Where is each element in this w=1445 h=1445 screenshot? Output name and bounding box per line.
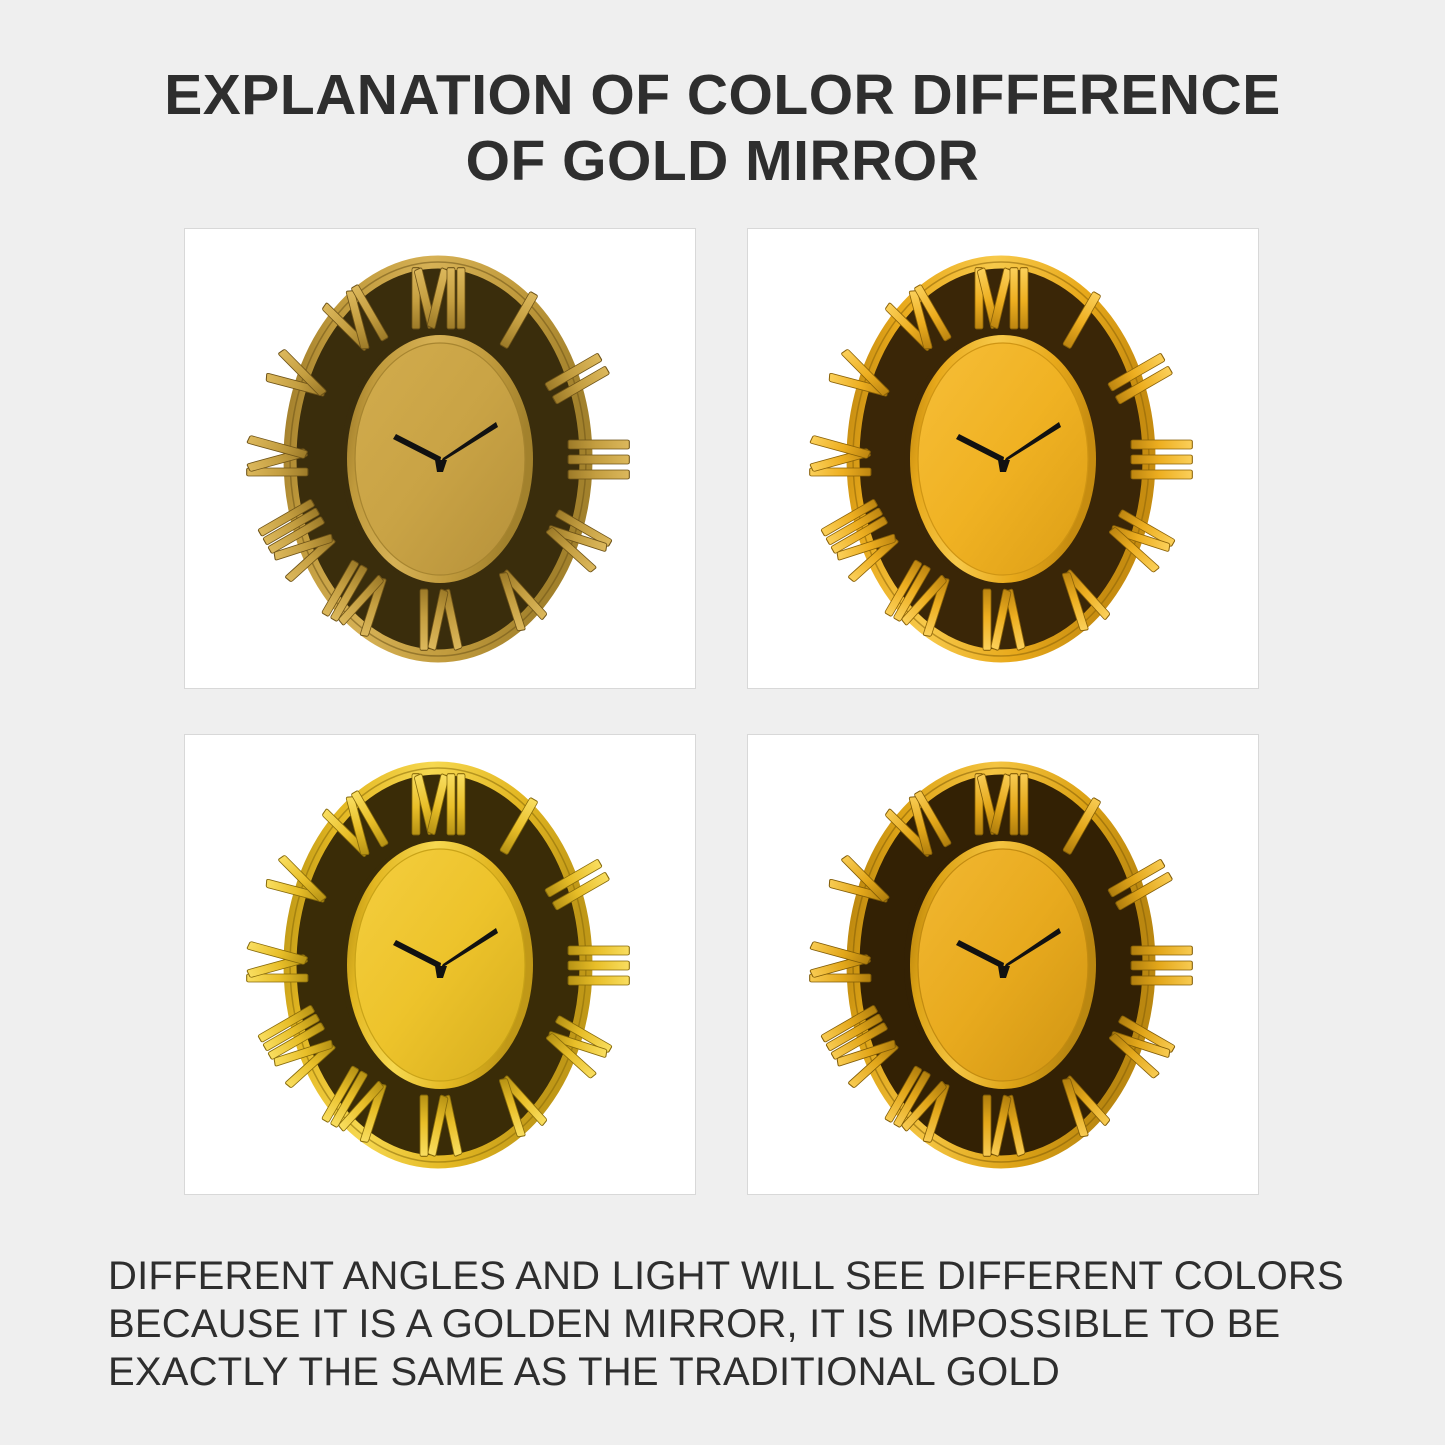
clock-svg [788, 244, 1218, 674]
product-image-grid [184, 228, 1259, 1203]
clock-svg [788, 750, 1218, 1180]
clock-svg [225, 750, 655, 1180]
product-panel-top-right[interactable] [747, 228, 1259, 689]
explanatory-caption: DIFFERENT ANGLES AND LIGHT WILL SEE DIFF… [108, 1252, 1388, 1396]
product-panel-bottom-right[interactable] [747, 734, 1259, 1195]
clock-image-top-right [788, 244, 1218, 674]
clock-svg [225, 244, 655, 674]
product-panel-top-left[interactable] [184, 228, 696, 689]
product-panel-bottom-left[interactable] [184, 734, 696, 1195]
clock-image-bottom-right [788, 750, 1218, 1180]
clock-image-bottom-left [225, 750, 655, 1180]
page-title: EXPLANATION OF COLOR DIFFERENCE OF GOLD … [0, 62, 1445, 194]
clock-image-top-left [225, 244, 655, 674]
